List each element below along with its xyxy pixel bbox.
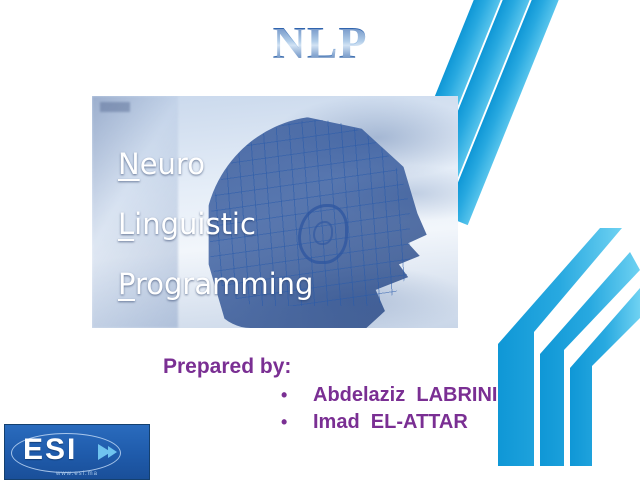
list-item: • Imad EL-ATTAR — [163, 409, 497, 436]
caption-initial-2: L — [118, 207, 134, 241]
caption-line-2: Linguistic — [118, 194, 313, 254]
logo-arrow-icons — [98, 443, 114, 461]
decorative-stripes-bottom-right — [488, 222, 640, 480]
arrow-right-icon-2 — [108, 446, 117, 458]
caption-rest-2: inguistic — [134, 207, 256, 241]
logo-text: ESI — [23, 433, 77, 467]
bullet-icon: • — [281, 382, 313, 409]
image-caption: Neuro Linguistic Programming — [118, 134, 313, 314]
prepared-by-label: Prepared by: — [163, 354, 497, 380]
caption-line-1: Neuro — [118, 134, 313, 194]
author-list: • Abdelaziz LABRINI • Imad EL-ATTAR — [163, 382, 497, 436]
prepared-by-block: Prepared by: • Abdelaziz LABRINI • Imad … — [163, 354, 497, 436]
bent-stripe-2 — [540, 252, 640, 466]
list-item: • Abdelaziz LABRINI — [163, 382, 497, 409]
author-name: Imad EL-ATTAR — [313, 409, 468, 436]
bent-stripe-3 — [570, 288, 640, 466]
caption-initial-3: P — [118, 267, 135, 301]
author-name: Abdelaziz LABRINI — [313, 382, 497, 409]
caption-rest-1: euro — [140, 147, 205, 181]
slide-image: Neuro Linguistic Programming — [92, 96, 458, 328]
logo-url: www.esi.ma — [5, 471, 149, 477]
presentation-slide: NLP Ne — [0, 0, 640, 480]
bent-stripes-svg — [488, 222, 640, 480]
page-title: NLP — [0, 20, 640, 66]
caption-rest-3: rogramming — [135, 267, 313, 301]
bullet-icon: • — [281, 409, 313, 436]
bent-stripe-1 — [498, 228, 622, 466]
esi-logo: ESI www.esi.ma — [4, 424, 150, 480]
caption-initial-1: N — [118, 147, 140, 181]
caption-line-3: Programming — [118, 254, 313, 314]
